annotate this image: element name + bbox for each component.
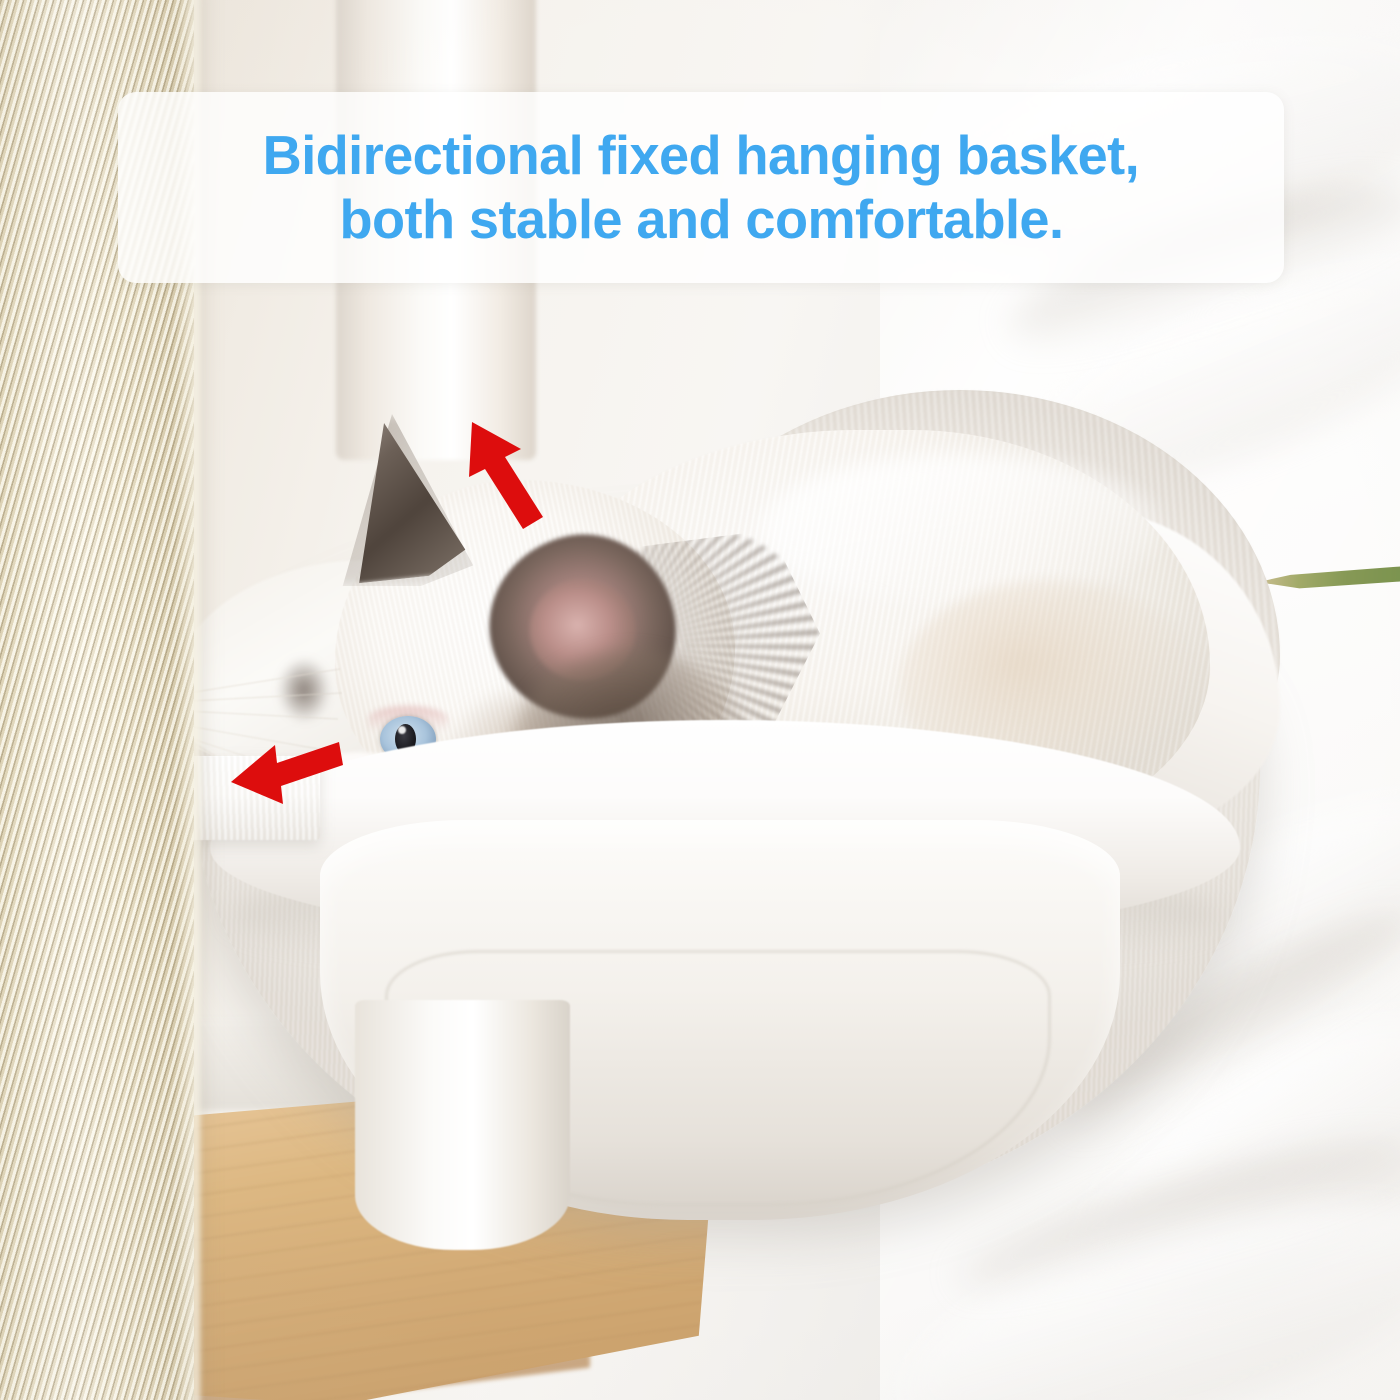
headline-banner: Bidirectional fixed hanging basket, both… [118, 92, 1284, 283]
hanging-basket-front [170, 390, 1280, 1220]
annotation-arrow-lower [225, 725, 345, 805]
headline-line-2: both stable and comfortable. [339, 188, 1063, 252]
annotation-arrow-upper [455, 405, 565, 535]
arrow-up-icon [469, 422, 543, 529]
basket-support-column [355, 1000, 570, 1250]
product-image: Bidirectional fixed hanging basket, both… [0, 0, 1400, 1400]
arrow-left-icon [231, 742, 343, 804]
headline-line-1: Bidirectional fixed hanging basket, [263, 124, 1139, 188]
